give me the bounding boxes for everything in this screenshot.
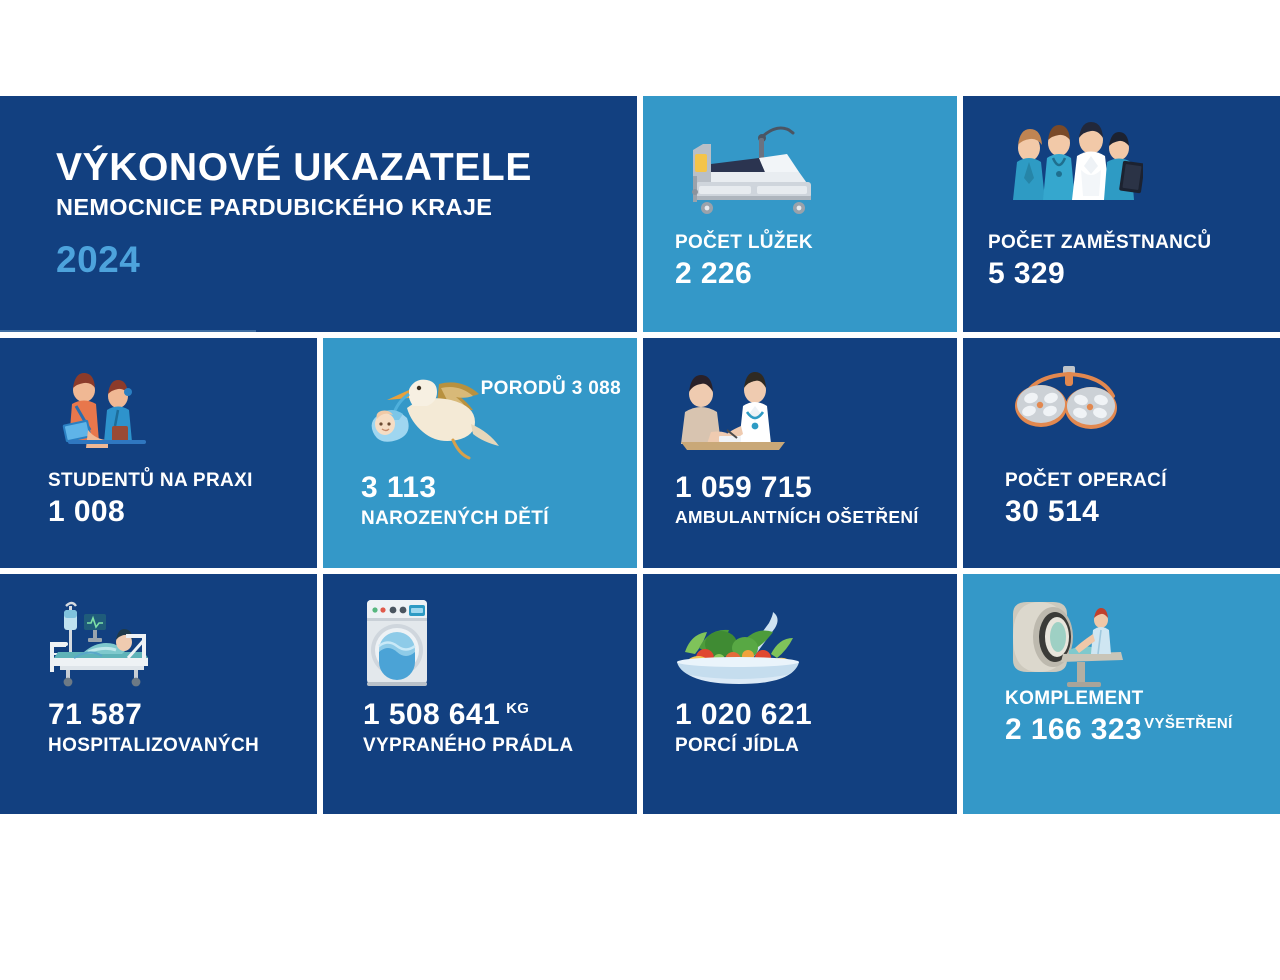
tile-hospitalized: 71 587 HOSPITALIZOVANÝCH: [0, 574, 317, 814]
header-underline-divider: [0, 330, 256, 332]
patient-in-bed-icon: [44, 596, 164, 688]
page-title: VÝKONOVÉ UKAZATELE: [56, 148, 617, 188]
tile-students: STUDENTŮ NA PRAXI 1 008: [0, 338, 317, 568]
imaging-value: 2 166 323: [1005, 713, 1142, 746]
outpatient-text-block: 1 059 715 AMBULANTNÍCH OŠETŘENÍ: [675, 471, 919, 528]
students-value: 1 008: [48, 495, 253, 528]
births-text-block: 3 113 NAROZENÝCH DĚTÍ: [361, 471, 549, 529]
washing-machine-icon: [363, 596, 431, 688]
tile-outpatient: 1 059 715 AMBULANTNÍCH OŠETŘENÍ: [643, 338, 957, 568]
food-label: PORCÍ JÍDLA: [675, 735, 812, 756]
laundry-text-block: 1 508 641KG VYPRANÉHO PRÁDLA: [363, 698, 573, 756]
laundry-value: 1 508 641: [363, 698, 500, 731]
infographic-canvas: VÝKONOVÉ UKAZATELE NEMOCNICE PARDUBICKÉH…: [0, 0, 1280, 980]
outpatient-label: AMBULANTNÍCH OŠETŘENÍ: [675, 508, 919, 528]
food-text-block: 1 020 621 PORCÍ JÍDLA: [675, 698, 812, 756]
hospitalized-label: HOSPITALIZOVANÝCH: [48, 735, 259, 756]
year-label: 2024: [56, 241, 617, 278]
operations-text-block: POČET OPERACÍ 30 514: [1005, 470, 1167, 528]
births-count-label: PORODŮ 3 088: [481, 378, 621, 399]
operations-value: 30 514: [1005, 495, 1167, 528]
beds-text-block: POČET LŮŽEK 2 226: [675, 232, 813, 290]
food-value: 1 020 621: [675, 698, 812, 731]
laundry-label: VYPRANÉHO PRÁDLA: [363, 735, 573, 756]
imaging-label: KOMPLEMENT: [1005, 688, 1233, 709]
operations-label: POČET OPERACÍ: [1005, 470, 1167, 491]
tile-births: PORODŮ 3 088: [323, 338, 637, 568]
beds-label: POČET LŮŽEK: [675, 232, 813, 253]
births-label: NAROZENÝCH DĚTÍ: [361, 508, 549, 529]
salad-bowl-icon: [675, 608, 801, 686]
header-text-block: VÝKONOVÉ UKAZATELE NEMOCNICE PARDUBICKÉH…: [56, 148, 617, 278]
staff-label: POČET ZAMĚSTNANCŮ: [988, 232, 1211, 253]
staff-value: 5 329: [988, 257, 1211, 290]
births-value: 3 113: [361, 471, 549, 504]
beds-value: 2 226: [675, 257, 813, 290]
students-label: STUDENTŮ NA PRAXI: [48, 470, 253, 491]
hospital-bed-icon: [677, 120, 827, 216]
ct-scanner-icon: [1005, 592, 1135, 688]
students-icon: [52, 368, 162, 460]
imaging-unit: VYŠETŘENÍ: [1144, 715, 1233, 732]
outpatient-value: 1 059 715: [675, 471, 919, 504]
imaging-text-block: KOMPLEMENT 2 166 323VYŠETŘENÍ: [1005, 688, 1233, 746]
laundry-value-row: 1 508 641KG: [363, 698, 573, 731]
tile-operations: POČET OPERACÍ 30 514: [963, 338, 1280, 568]
tile-imaging: KOMPLEMENT 2 166 323VYŠETŘENÍ: [963, 574, 1280, 814]
surgical-lamp-icon: [1007, 364, 1131, 448]
tile-beds: POČET LŮŽEK 2 226: [643, 96, 957, 332]
hospitalized-value: 71 587: [48, 698, 259, 731]
staff-text-block: POČET ZAMĚSTNANCŮ 5 329: [988, 232, 1211, 290]
students-text-block: STUDENTŮ NA PRAXI 1 008: [48, 470, 253, 528]
tile-food: 1 020 621 PORCÍ JÍDLA: [643, 574, 957, 814]
header-tile: VÝKONOVÉ UKAZATELE NEMOCNICE PARDUBICKÉH…: [0, 96, 637, 332]
page-subtitle: NEMOCNICE PARDUBICKÉHO KRAJE: [56, 195, 617, 220]
tile-staff: POČET ZAMĚSTNANCŮ 5 329: [963, 96, 1280, 332]
hospitalized-text-block: 71 587 HOSPITALIZOVANÝCH: [48, 698, 259, 756]
tile-laundry: 1 508 641KG VYPRANÉHO PRÁDLA: [323, 574, 637, 814]
doctor-patient-consult-icon: [675, 368, 791, 460]
medical-team-icon: [1003, 118, 1143, 210]
laundry-unit: KG: [506, 700, 529, 717]
imaging-value-row: 2 166 323VYŠETŘENÍ: [1005, 713, 1233, 746]
